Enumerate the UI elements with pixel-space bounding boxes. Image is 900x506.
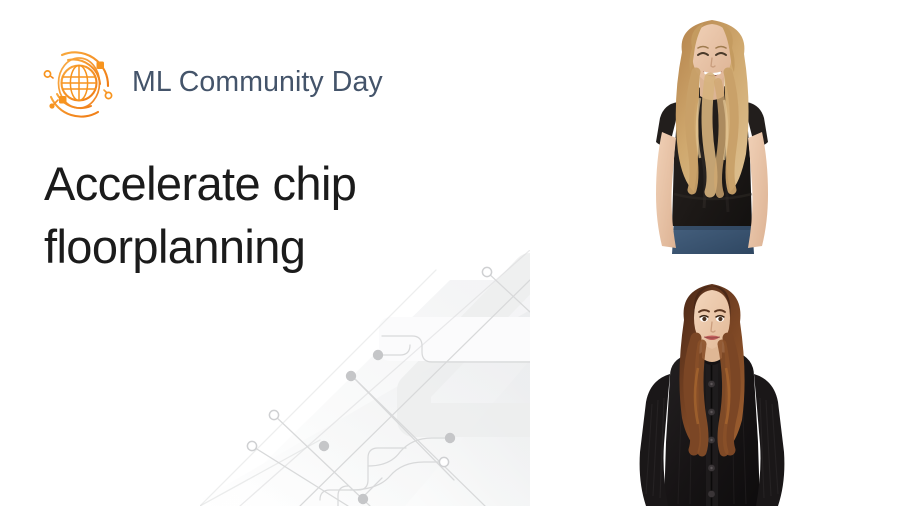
circuit-trace-artwork	[200, 250, 530, 506]
presentation-slide: ML Community Day Accelerate chip floorpl…	[0, 0, 900, 506]
globe-orbit-icon	[38, 44, 118, 122]
brand-name: ML Community Day	[132, 68, 383, 99]
speaker-photo-brunette-black-cardigan	[612, 272, 812, 506]
page-title: Accelerate chip floorplanning	[44, 152, 474, 278]
brand-lockup: ML Community Day	[38, 44, 383, 122]
speaker-photo-blonde-black-tshirt	[612, 8, 812, 254]
